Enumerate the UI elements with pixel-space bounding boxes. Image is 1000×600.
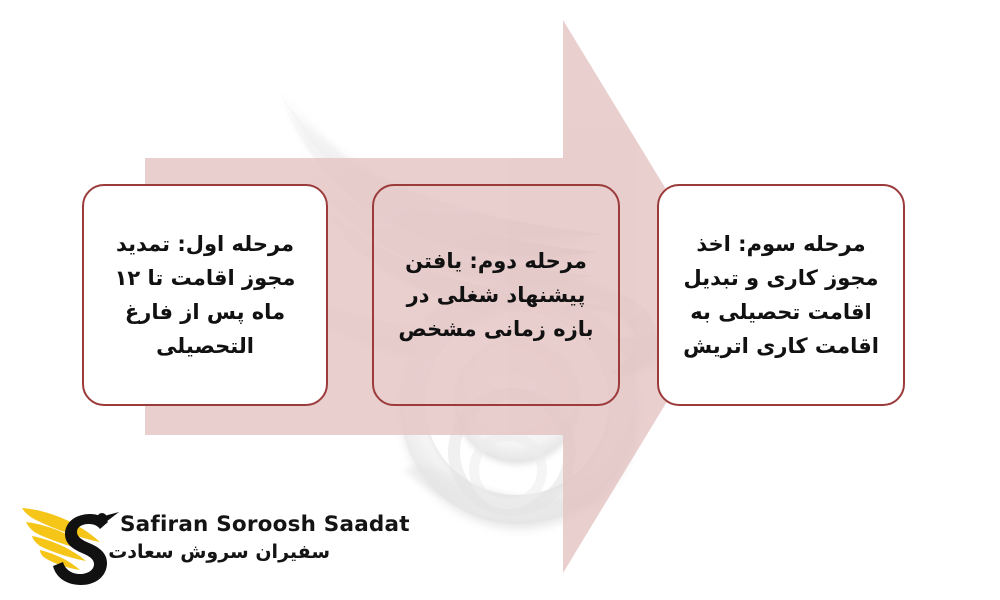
step-card-2[interactable]: مرحله دوم: یافتن پیشنهاد شغلی در بازه زم… [372, 184, 620, 406]
infographic-canvas: مرحله اول: تمدید مجوز اقامت تا ۱۲ ماه پس… [0, 0, 1000, 600]
step-card-3-label: مرحله سوم: اخذ مجوز کاری و تبدیل اقامت ت… [673, 227, 889, 363]
logo-latin-name: Safiran Soroosh Saadat [120, 514, 330, 536]
step-card-2-label: مرحله دوم: یافتن پیشنهاد شغلی در بازه زم… [388, 244, 604, 346]
logo-persian-name: سفیران سروش سعادت [120, 543, 330, 562]
step-card-1[interactable]: مرحله اول: تمدید مجوز اقامت تا ۱۲ ماه پس… [82, 184, 328, 406]
brand-logo[interactable]: Safiran Soroosh Saadat سفیران سروش سعادت [18, 498, 318, 590]
logo-wordmark: Safiran Soroosh Saadat سفیران سروش سعادت [120, 514, 330, 562]
step-card-3[interactable]: مرحله سوم: اخذ مجوز کاری و تبدیل اقامت ت… [657, 184, 905, 406]
step-card-1-label: مرحله اول: تمدید مجوز اقامت تا ۱۲ ماه پس… [98, 227, 312, 363]
